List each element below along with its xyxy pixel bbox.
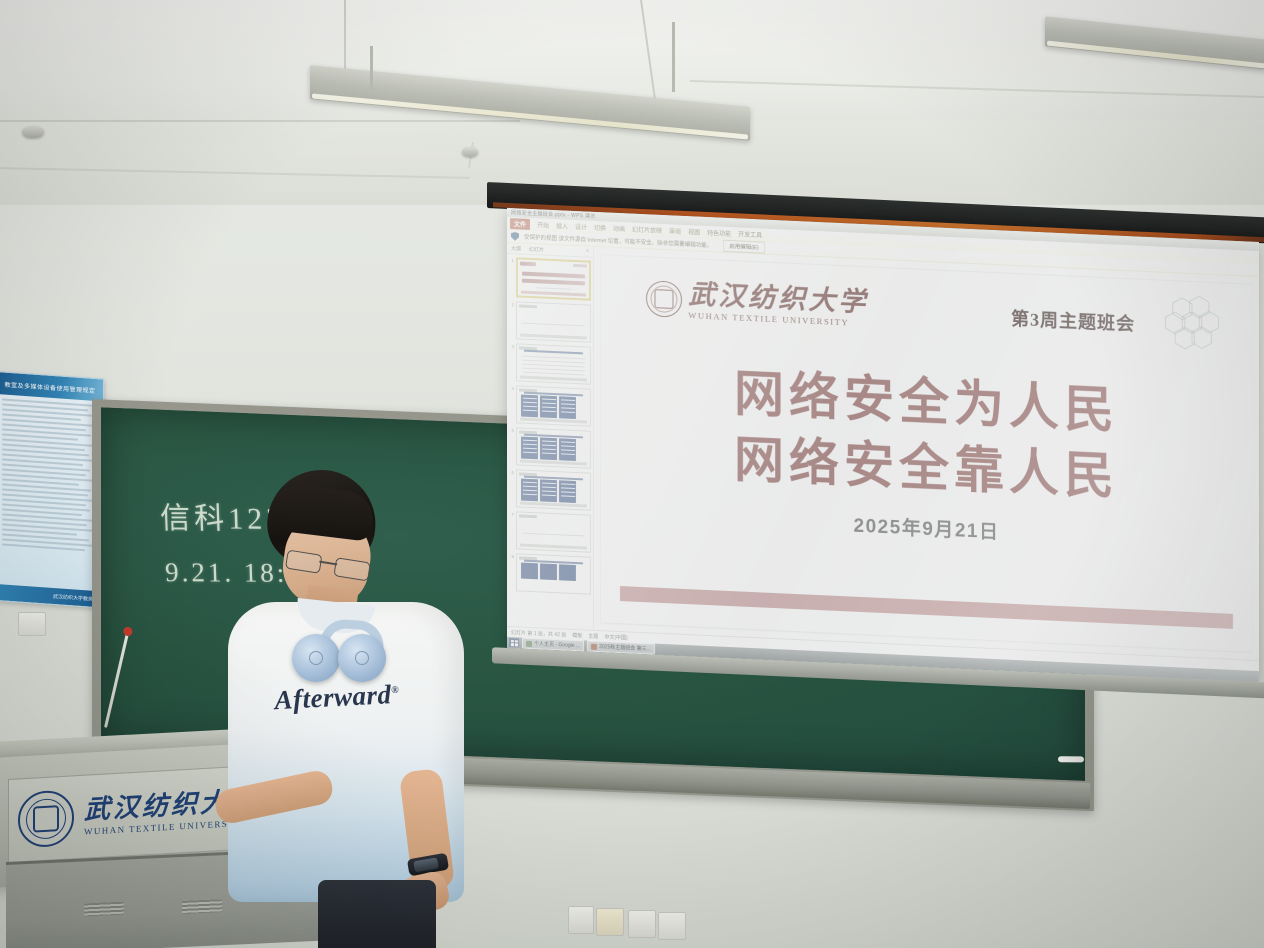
ribbon-tab-insert[interactable]: 插入 [556,221,568,231]
slide-header-right: 第3周主题班会 [1011,305,1135,337]
slide-number: 2 [509,301,514,307]
thumb-header-tag [573,264,587,267]
presenter-person: Afterward® [210,470,480,948]
slide-main-title: 网络安全为人民 网络安全靠人民 [601,354,1253,516]
thumb-column [540,563,557,580]
thumb-column [521,563,538,580]
thumb-title-line [522,279,585,286]
slide-number: 8 [509,553,514,559]
taskbar-item-label: 个人主页 - Google ... [534,640,580,649]
thumb-date-line [536,287,571,290]
slide-number: 6 [509,469,514,475]
thumb-body-line [522,356,585,360]
thumb-subtitle [524,350,583,355]
taskbar-item-label: 2025秋主题班会 第三... [599,643,651,652]
thumb-footer-bar [520,543,587,549]
thumb-column [559,564,576,581]
thumbnail-preview [516,553,591,594]
current-slide: 武汉纺织大学 WUHAN TEXTILE UNIVERSITY 第3周主题班会 [600,254,1254,653]
thumbnail-list[interactable]: 1 2 [507,254,593,630]
ribbon-tab-transition[interactable]: 切换 [594,223,606,233]
poster-body [0,394,103,559]
slide-thumbnail[interactable]: 3 [509,343,591,385]
wall-socket-b[interactable] [596,908,624,936]
thumb-body-line [522,323,585,327]
slide-thumbnail[interactable]: 7 [509,511,591,553]
slide-thumbnail[interactable]: 1 [509,257,591,301]
thumb-body-line [522,372,585,376]
thumb-logo [520,261,536,266]
projected-image: 网络安全主题班会.pptx - WPS 演示 文件 开始 插入 设计 切换 动画… [507,208,1259,682]
slide-footer-bar [620,586,1233,629]
registered-mark: ® [391,685,400,696]
slide-number: 1 [509,257,514,263]
university-seal-icon [18,789,74,848]
thumb-footer-bar [520,501,587,507]
slide-logo-text: 武汉纺织大学 WUHAN TEXTILE UNIVERSITY [688,281,868,328]
light-suspension-rod-left [370,46,373,90]
thumb-column [540,395,557,418]
tab-outline[interactable]: 大纲 [511,245,521,252]
thumb-title-line [522,272,585,279]
tab-slides[interactable]: 幻灯片 [529,245,544,253]
thumb-column [540,479,557,502]
ribbon-tab-slideshow[interactable]: 幻灯片放映 [632,225,662,235]
thumb-footer-bar [521,291,586,297]
ribbon-tab-file[interactable]: 文件 [510,218,530,230]
browser-icon [526,640,532,646]
thumb-column [559,396,576,419]
thumb-column [521,437,538,460]
ribbon-tab-home[interactable]: 开始 [537,220,549,230]
slide-thumbnail[interactable]: 2 [509,301,591,343]
slide-number: 7 [509,511,514,517]
shield-icon [511,232,519,241]
projection-screen: 网络安全主题班会.pptx - WPS 演示 文件 开始 插入 设计 切换 动画… [487,182,1264,718]
thumb-footer-bar [520,375,587,381]
projector-mount-icon [462,147,478,157]
status-language: 中文(中国) [604,633,627,641]
wall-socket-a[interactable] [568,906,594,934]
thumb-header-tag [519,514,537,517]
close-icon[interactable]: × [586,248,589,254]
chalk-piece[interactable] [1058,756,1084,762]
light-suspension-rod-left2 [672,22,675,92]
poster-title: 教室及多媒体设备使用管理规定 [4,379,95,394]
thumb-header-tag [519,304,537,307]
thumb-body-line [522,368,585,372]
thumbnail-preview [516,257,591,300]
slide-thumbnail[interactable]: 8 [509,553,591,595]
headphone-left-earcup [292,634,340,682]
slide-editing-stage: 武汉纺织大学 WUHAN TEXTILE UNIVERSITY 第3周主题班会 [594,247,1259,660]
thumbnail-preview [516,469,591,510]
thumb-column [540,437,557,460]
thumb-column [521,479,538,502]
thumbnail-preview [516,343,591,384]
thumbnail-preview [516,301,591,342]
slide-number: 4 [509,385,514,391]
smoke-detector-icon [22,126,44,138]
slide-thumbnail[interactable]: 6 [509,469,591,511]
slide-thumbnail-pane[interactable]: 大纲 幻灯片 × 1 [507,243,594,630]
slide-number: 3 [509,343,514,349]
ribbon-tab-animation[interactable]: 动画 [613,224,625,234]
wall-switch-left[interactable] [18,612,46,636]
thumb-body-line [522,364,585,368]
ribbon-tab-devtools[interactable]: 开发工具 [738,229,762,239]
thumb-body-line [522,360,585,364]
ribbon-tab-features[interactable]: 特色功能 [707,228,731,238]
cabinet-vent-left [84,902,124,917]
thumb-column [559,480,576,503]
tshirt-brand: Afterward [274,679,392,715]
ribbon-tab-review[interactable]: 审阅 [669,226,681,236]
thumbnail-preview [516,385,591,426]
thumb-footer-bar [520,333,587,339]
ribbon-tab-design[interactable]: 设计 [575,222,587,232]
slide-university-logo: 武汉纺织大学 WUHAN TEXTILE UNIVERSITY [646,279,868,328]
thumb-footer-bar [520,459,587,465]
editor-workspace: 大纲 幻灯片 × 1 [507,243,1259,660]
slide-number: 5 [509,427,514,433]
classroom-scene: 教室及多媒体设备使用管理规定 [0,0,1264,948]
status-theme: 主题 [588,632,598,639]
university-seal-icon [646,280,682,318]
dark-trousers [318,880,436,948]
hexagon-decoration-icon [1161,295,1223,356]
wall-socket-d[interactable] [658,912,686,940]
thumb-body-line [522,533,585,537]
thumb-footer-bar [520,417,587,423]
thumbnail-preview [516,511,591,552]
slide-thumbnail[interactable]: 5 [509,427,591,469]
thumbnail-preview [516,427,591,468]
wall-poster: 教室及多媒体设备使用管理规定 [0,371,104,609]
wall-socket-c[interactable] [628,910,656,938]
thumb-column [521,395,538,418]
status-template: 模板 [572,631,582,638]
presentation-icon [591,643,597,649]
slide-thumbnail[interactable]: 4 [509,385,591,427]
thumb-column [559,438,576,461]
enable-editing-button[interactable]: 启用编辑(E) [723,240,764,254]
projected-desktop: 网络安全主题班会.pptx - WPS 演示 文件 开始 插入 设计 切换 动画… [507,208,1259,682]
ribbon-tab-view[interactable]: 视图 [688,227,700,237]
ceiling-corner-line [0,120,520,122]
start-button-icon[interactable] [509,638,519,647]
headphone-right-earcup [338,634,386,682]
